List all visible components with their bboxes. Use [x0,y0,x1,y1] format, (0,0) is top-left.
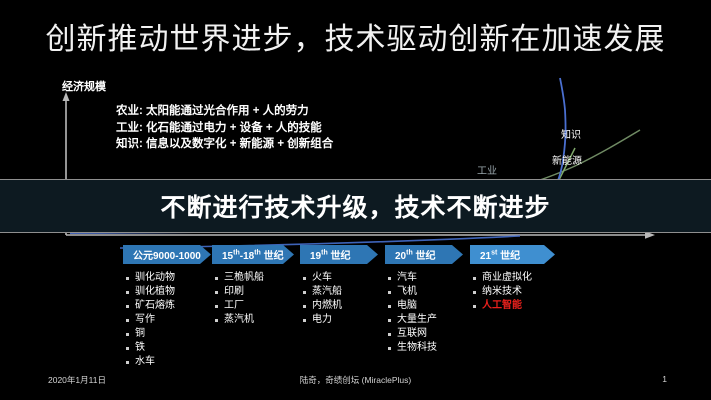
definition-agriculture: 农业: 太阳能通过光合作用 + 人的劳力 [116,103,333,120]
footer-author: 陆奇，奇绩创坛 (MiraclePlus) [0,374,711,386]
timeline-header-label-4: 20th 世纪 [395,247,436,262]
timeline-header-2[interactable]: 15th-18th 世纪 [212,245,294,264]
list-item: 互联网 [385,327,463,341]
timeline-header-4[interactable]: 20th 世纪 [385,245,463,264]
timeline-header-label-1: 公元9000-1000 [133,247,201,262]
timeline-list-4: 汽车 飞机 电脑 大量生产 互联网 生物科技 [385,271,463,355]
timeline-list-5: 商业虚拟化 纳米技术 人工智能 [470,271,555,313]
timeline-header-label-3: 19th 世纪 [310,247,351,262]
timeline-column-5: 21st 世纪 商业虚拟化 纳米技术 人工智能 [470,245,555,313]
timeline-list-2: 三桅帆船 印刷 工厂 蒸汽机 [212,271,294,327]
list-item: 铁 [123,341,211,355]
list-item: 生物科技 [385,341,463,355]
list-item: 水车 [123,355,211,369]
overlay-banner: 不断进行技术升级，技术不断进步 [0,179,711,233]
list-item: 三桅帆船 [212,271,294,285]
list-item-highlighted: 人工智能 [470,299,555,313]
list-item: 驯化植物 [123,285,211,299]
timeline-column-2: 15th-18th 世纪 三桅帆船 印刷 工厂 蒸汽机 [212,245,294,327]
definitions-block: 农业: 太阳能通过光合作用 + 人的劳力 工业: 化石能通过电力 + 设备 + … [116,103,333,153]
list-item: 蒸汽机 [212,313,294,327]
list-item: 写作 [123,313,211,327]
banner-text: 不断进行技术升级，技术不断进步 [160,188,550,224]
timeline-header-3[interactable]: 19th 世纪 [300,245,378,264]
list-item: 矿石熔炼 [123,299,211,313]
list-item: 电脑 [385,299,463,313]
definition-industry: 工业: 化石能通过电力 + 设备 + 人的技能 [116,120,333,137]
timeline-column-1: 公元9000-1000 驯化动物 驯化植物 矿石熔炼 写作 铜 铁 水车 [123,245,211,369]
definition-knowledge: 知识: 信息以及数字化 + 新能源 + 创新组合 [116,136,333,153]
timeline-header-1[interactable]: 公元9000-1000 [123,245,211,264]
list-item: 印刷 [212,285,294,299]
list-item: 大量生产 [385,313,463,327]
list-item: 内燃机 [300,299,378,313]
timeline-list-3: 火车 蒸汽船 内燃机 电力 [300,271,378,327]
timeline-header-label-2: 15th-18th 世纪 [222,247,284,262]
presentation-slide: 创新推动世界进步，技术驱动创新在加速发展 经济规模 农业: 太阳能通过光合 [0,0,711,400]
list-item: 电力 [300,313,378,327]
list-item: 蒸汽船 [300,285,378,299]
list-item: 飞机 [385,285,463,299]
list-item: 汽车 [385,271,463,285]
timeline-header-5[interactable]: 21st 世纪 [470,245,555,264]
timeline: 公元9000-1000 驯化动物 驯化植物 矿石熔炼 写作 铜 铁 水车 15t… [0,245,711,365]
timeline-column-4: 20th 世纪 汽车 飞机 电脑 大量生产 互联网 生物科技 [385,245,463,355]
timeline-column-3: 19th 世纪 火车 蒸汽船 内燃机 电力 [300,245,378,327]
list-item: 驯化动物 [123,271,211,285]
timeline-header-label-5: 21st 世纪 [480,247,520,262]
timeline-list-1: 驯化动物 驯化植物 矿石熔炼 写作 铜 铁 水车 [123,271,211,369]
footer-page-number: 1 [662,374,667,384]
curve-label-newenergy: 新能源 [552,152,582,167]
list-item: 火车 [300,271,378,285]
curve-label-industry: 工业 [477,162,497,177]
list-item: 商业虚拟化 [470,271,555,285]
list-item: 铜 [123,327,211,341]
curve-label-knowledge: 知识 [561,126,581,141]
list-item: 纳米技术 [470,285,555,299]
slide-footer: 2020年1月11日 陆奇，奇绩创坛 (MiraclePlus) 1 [0,374,711,390]
page-title: 创新推动世界进步，技术驱动创新在加速发展 [0,14,711,58]
list-item: 工厂 [212,299,294,313]
